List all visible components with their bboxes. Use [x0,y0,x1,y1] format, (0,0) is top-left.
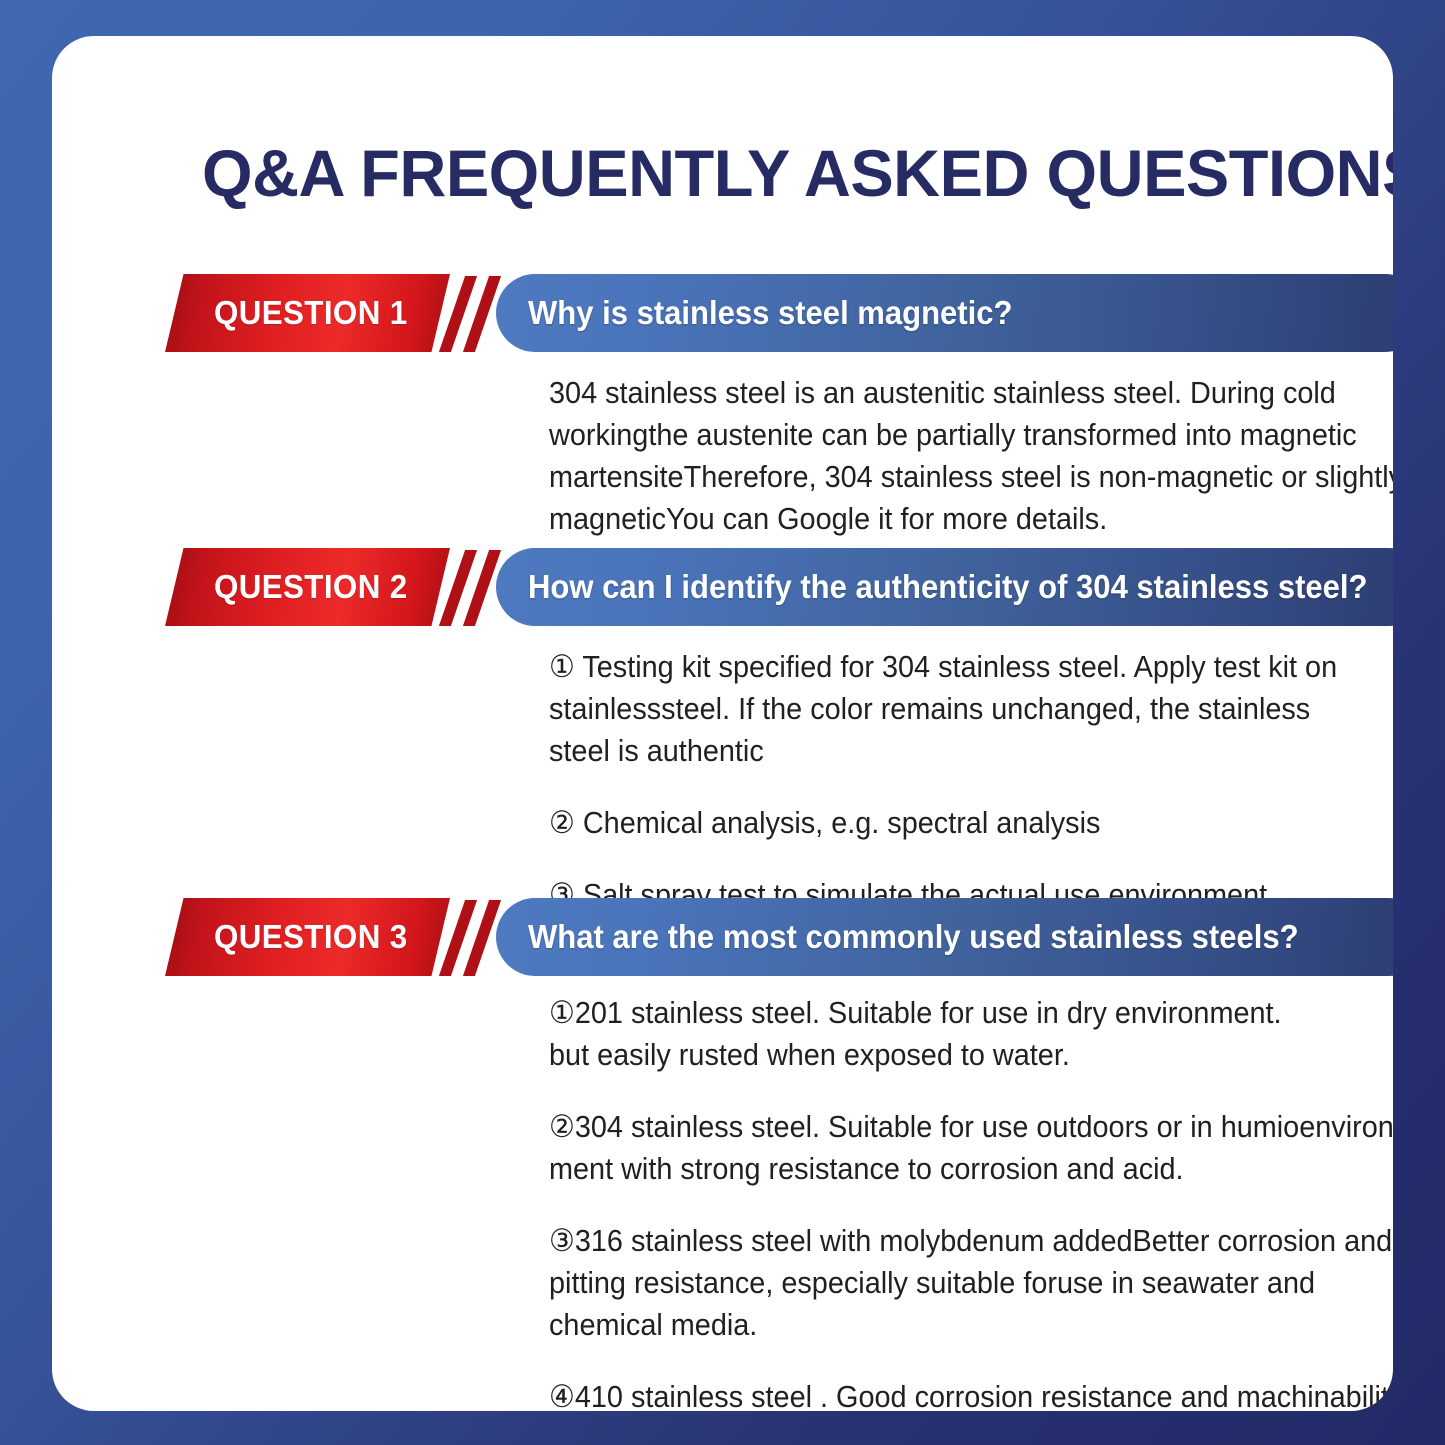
answer-block-3: ①201 stainless steel. Suitable for use i… [549,992,1393,1411]
faq-header-row-1: QUESTION 1 Why is stainless steel magnet… [52,274,1393,352]
question-badge-3[interactable]: QUESTION 3 [165,898,450,976]
answer-paragraph: ① Testing kit specified for 304 stainles… [549,646,1358,772]
faq-page-background: Q&A FREQUENTLY ASKED QUESTIONS QUESTION … [0,0,1445,1445]
faq-card: Q&A FREQUENTLY ASKED QUESTIONS QUESTION … [52,36,1393,1411]
answer-paragraph: ①201 stainless steel. Suitable for use i… [549,992,1393,1076]
question-badge-1[interactable]: QUESTION 1 [165,274,450,352]
page-title: Q&A FREQUENTLY ASKED QUESTIONS [202,134,1345,212]
question-badge-label-1: QUESTION 1 [214,294,408,332]
question-badge-label-3: QUESTION 3 [214,918,408,956]
answer-paragraph: 304 stainless steel is an austenitic sta… [549,372,1393,540]
question-pill-3[interactable]: What are the most commonly used stainles… [496,898,1393,976]
question-badge-2[interactable]: QUESTION 2 [165,548,450,626]
question-pill-1[interactable]: Why is stainless steel magnetic? [496,274,1393,352]
answer-paragraph: ②304 stainless steel. Suitable for use o… [549,1106,1393,1190]
faq-header-row-3: QUESTION 3 What are the most commonly us… [52,898,1393,976]
question-text-2: How can I identify the authenticity of 3… [528,568,1367,606]
question-text-3: What are the most commonly used stainles… [528,918,1299,956]
answer-block-1: 304 stainless steel is an austenitic sta… [549,372,1393,540]
question-text-1: Why is stainless steel magnetic? [528,294,1012,332]
question-pill-2[interactable]: How can I identify the authenticity of 3… [496,548,1393,626]
question-badge-label-2: QUESTION 2 [214,568,408,606]
answer-paragraph: ② Chemical analysis, e.g. spectral analy… [549,802,1358,844]
answer-paragraph: ③316 stainless steel with molybdenum add… [549,1220,1393,1346]
faq-header-row-2: QUESTION 2 How can I identify the authen… [52,548,1393,626]
answer-paragraph: ④410 stainless steel . Good corrosion re… [549,1376,1393,1411]
answer-block-2: ① Testing kit specified for 304 stainles… [549,646,1358,916]
